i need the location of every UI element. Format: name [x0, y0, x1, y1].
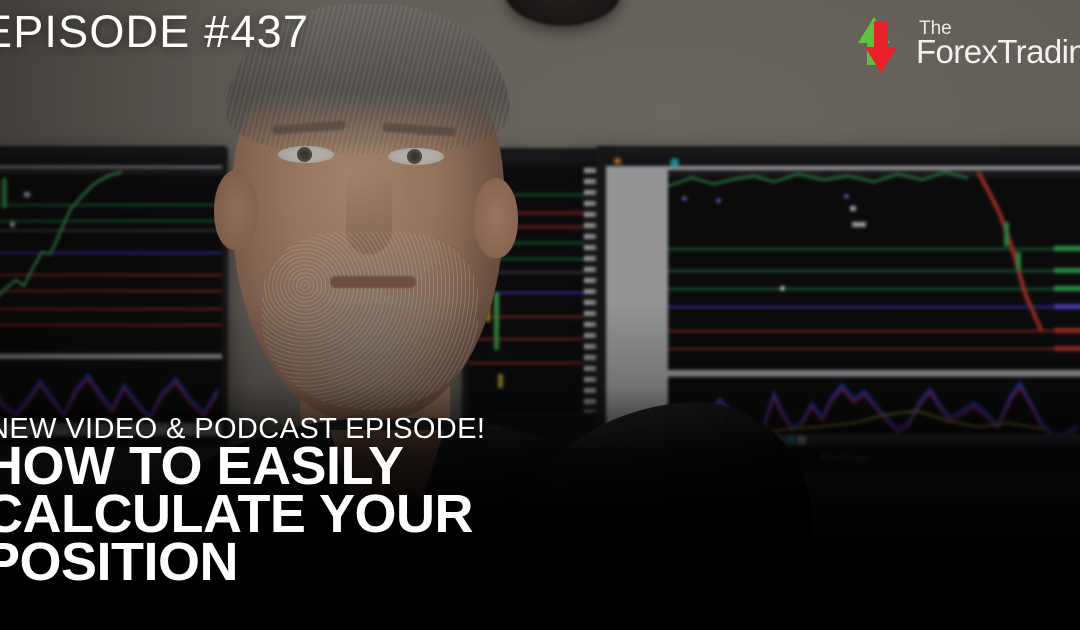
logo-name-text: ForexTradingCoa	[916, 35, 1080, 68]
logo-arrows	[852, 9, 914, 77]
headline-line-3: POSITION	[0, 538, 744, 586]
video-thumbnail: ViewSonic EPISODE #437 NEW VIDEO & PODCA…	[0, 0, 1080, 630]
promo-headline: HOW TO EASILY CALCULATE YOUR POSITION	[0, 442, 744, 586]
headline-line-1: HOW TO EASILY	[0, 442, 744, 490]
headline-line-2: CALCULATE YOUR	[0, 490, 744, 538]
episode-number-title: EPISODE #437	[0, 6, 309, 58]
red-down-arrow-icon	[852, 9, 914, 77]
brand-logo[interactable]: The ForexTradingCoa	[852, 6, 1080, 80]
